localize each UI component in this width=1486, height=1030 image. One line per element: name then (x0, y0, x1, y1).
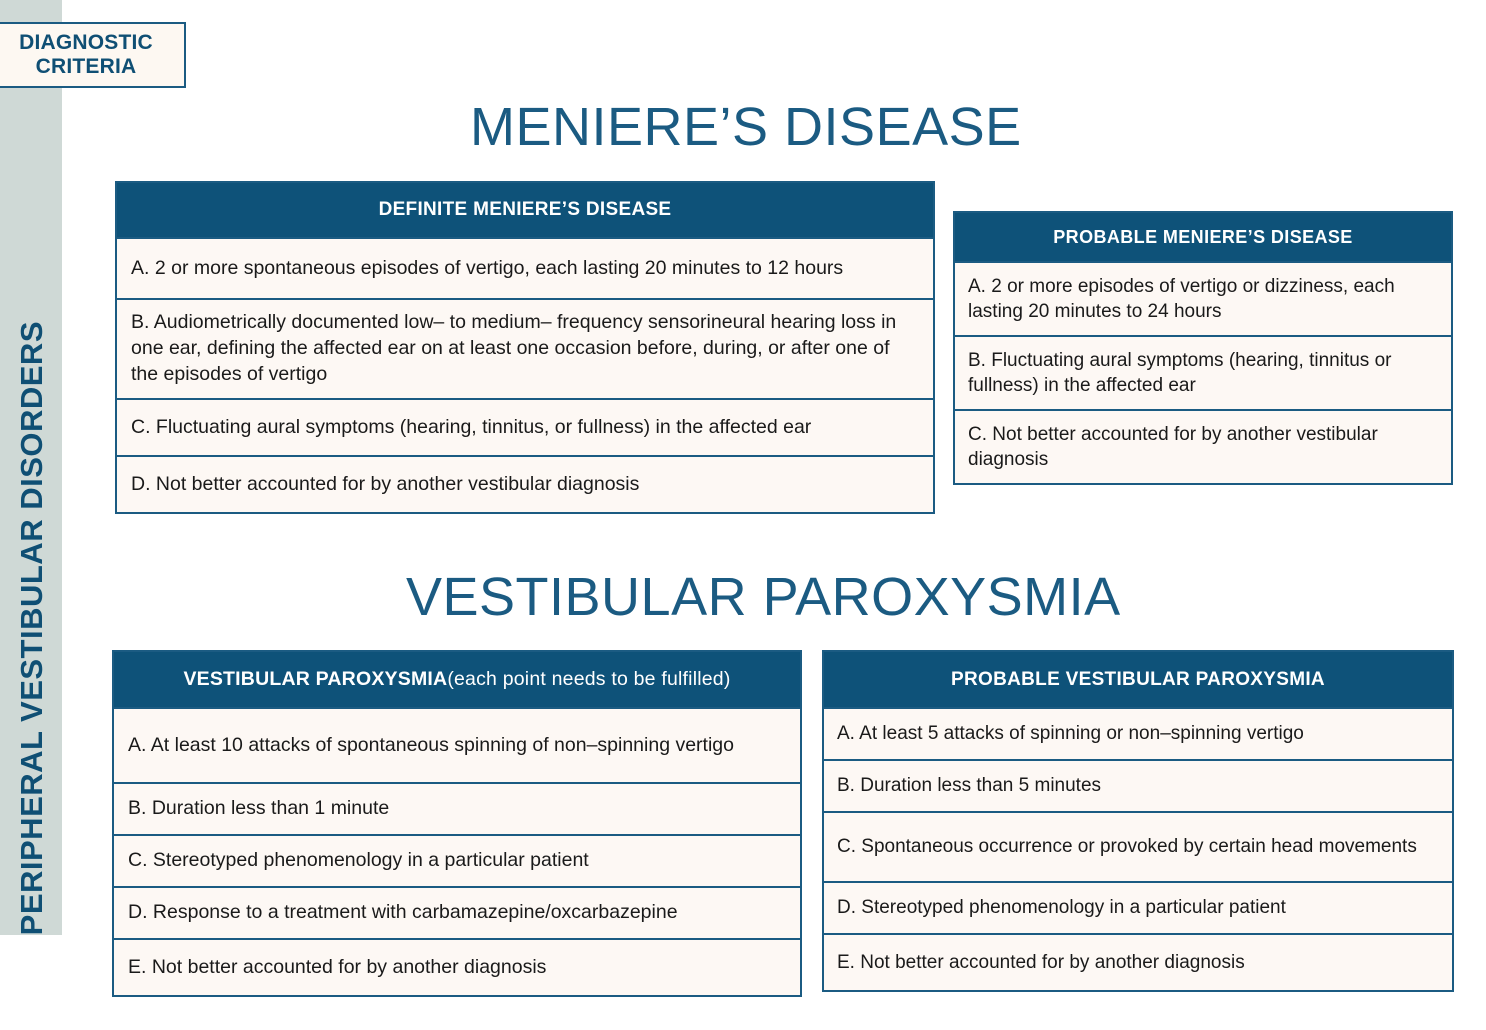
table-row: C. Stereotyped phenomenology in a partic… (112, 836, 802, 888)
criterion-d-text: D. Not better accounted for by another v… (131, 472, 639, 498)
table-row: E. Not better accounted for by another d… (112, 940, 802, 997)
table-header-note: (each point needs to be fulfilled) (447, 668, 730, 691)
criterion-a-text: A. 2 or more spontaneous episodes of ver… (131, 256, 843, 282)
criterion-d-text: D. Response to a treatment with carbamaz… (128, 900, 678, 926)
table-probable-menieres-disease: PROBABLE MENIERE’S DISEASE A. 2 or more … (953, 211, 1453, 485)
table-probable-vestibular-paroxysmia: PROBABLE VESTIBULAR PAROXYSMIA A. At lea… (822, 650, 1454, 992)
table-row: A. At least 10 attacks of spontaneous sp… (112, 709, 802, 784)
criterion-d-text: D. Stereotyped phenomenology in a partic… (837, 895, 1286, 920)
criterion-c-text: C. Spontaneous occurrence or provoked by… (837, 834, 1417, 859)
criterion-b-text: B. Duration less than 5 minutes (837, 773, 1101, 798)
table-header-label: VESTIBULAR PAROXYSMIA (183, 668, 447, 691)
criterion-e-text: E. Not better accounted for by another d… (837, 950, 1245, 975)
table-row: B. Audiometrically documented low– to me… (115, 300, 935, 400)
table-row: E. Not better accounted for by another d… (822, 935, 1454, 992)
criterion-a-text: A. At least 5 attacks of spinning or non… (837, 721, 1304, 746)
criterion-e-text: E. Not better accounted for by another d… (128, 955, 546, 981)
table-header-definite-menieres: DEFINITE MENIERE’S DISEASE (115, 181, 935, 239)
criterion-c-text: C. Stereotyped phenomenology in a partic… (128, 848, 589, 874)
criterion-b-text: B. Audiometrically documented low– to me… (131, 310, 919, 387)
table-row: A. At least 5 attacks of spinning or non… (822, 709, 1454, 761)
table-row: B. Duration less than 5 minutes (822, 761, 1454, 813)
table-row: D. Stereotyped phenomenology in a partic… (822, 883, 1454, 935)
table-header-label: PROBABLE VESTIBULAR PAROXYSMIA (951, 669, 1325, 691)
section-title-vestibular-paroxysmia: VESTIBULAR PAROXYSMIA (406, 566, 1121, 628)
sidebar-band (0, 0, 62, 935)
table-vestibular-paroxysmia: VESTIBULAR PAROXYSMIA (each point needs … (112, 650, 802, 997)
table-row: A. 2 or more spontaneous episodes of ver… (115, 239, 935, 300)
criterion-c-text: C. Not better accounted for by another v… (968, 422, 1438, 473)
criterion-b-text: B. Fluctuating aural symptoms (hearing, … (968, 348, 1438, 399)
diagnostic-criteria-badge-text: DIAGNOSTIC CRITERIA (0, 31, 184, 78)
table-definite-menieres-disease: DEFINITE MENIERE’S DISEASE A. 2 or more … (115, 181, 935, 514)
table-row: A. 2 or more episodes of vertigo or dizz… (953, 263, 1453, 337)
table-header-probable-menieres: PROBABLE MENIERE’S DISEASE (953, 211, 1453, 263)
criterion-c-text: C. Fluctuating aural symptoms (hearing, … (131, 415, 811, 441)
table-row: B. Duration less than 1 minute (112, 784, 802, 836)
section-title-meniere: MENIERE’S DISEASE (470, 96, 1022, 158)
table-row: D. Response to a treatment with carbamaz… (112, 888, 802, 940)
table-header-vestibular-paroxysmia: VESTIBULAR PAROXYSMIA (each point needs … (112, 650, 802, 709)
table-header-label: PROBABLE MENIERE’S DISEASE (1053, 227, 1352, 248)
diagnostic-criteria-badge: DIAGNOSTIC CRITERIA (0, 22, 186, 88)
table-row: B. Fluctuating aural symptoms (hearing, … (953, 337, 1453, 411)
criterion-a-text: A. At least 10 attacks of spontaneous sp… (128, 733, 734, 759)
table-header-label: DEFINITE MENIERE’S DISEASE (379, 199, 672, 221)
criterion-a-text: A. 2 or more episodes of vertigo or dizz… (968, 274, 1438, 325)
table-row: C. Spontaneous occurrence or provoked by… (822, 813, 1454, 883)
table-row: D. Not better accounted for by another v… (115, 457, 935, 514)
table-row: C. Fluctuating aural symptoms (hearing, … (115, 400, 935, 457)
table-row: C. Not better accounted for by another v… (953, 411, 1453, 485)
table-header-probable-vestibular-paroxysmia: PROBABLE VESTIBULAR PAROXYSMIA (822, 650, 1454, 709)
criterion-b-text: B. Duration less than 1 minute (128, 796, 389, 822)
